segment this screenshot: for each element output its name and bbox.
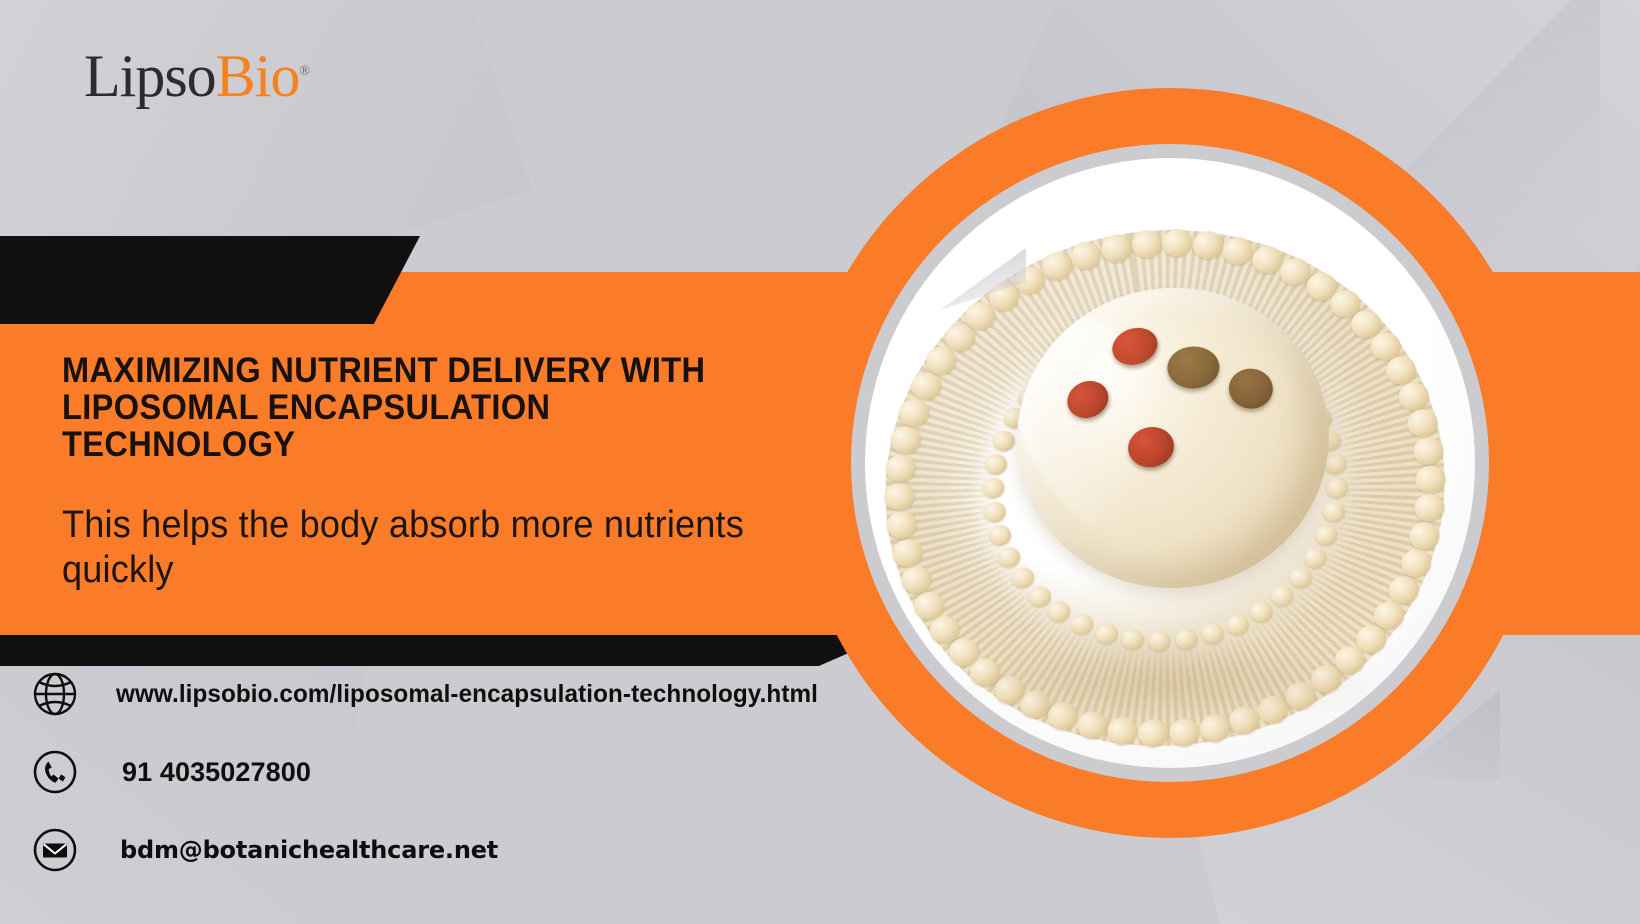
liposome-illustration: [865, 168, 1475, 768]
black-band-top: [0, 236, 420, 324]
white-disc: [865, 158, 1475, 768]
contact-block: www.lipsobio.com/liposomal-encapsulation…: [28, 655, 888, 889]
registered-trademark-icon: ®: [299, 64, 310, 79]
contact-row-phone[interactable]: 91 4035027800: [28, 733, 888, 811]
subheadline: This helps the body absorb more nutrient…: [62, 503, 765, 592]
copy-block: MAXIMIZING NUTRIENT DELIVERY WITH LIPOSO…: [62, 352, 802, 592]
phone-icon: [28, 745, 82, 799]
logo-text-primary: Lipso: [84, 43, 216, 109]
envelope-icon: [28, 823, 82, 877]
banner-canvas: LipsoBio®: [0, 0, 1640, 924]
brand-logo[interactable]: LipsoBio®: [84, 46, 310, 106]
logo-text-secondary: Bio: [216, 43, 300, 109]
liposome-shadow: [955, 638, 1385, 728]
email-text: bdm@botanichealthcare.net: [120, 836, 498, 864]
liposome-circle-graphic: [795, 88, 1545, 838]
headline: MAXIMIZING NUTRIENT DELIVERY WITH LIPOSO…: [62, 352, 750, 463]
website-text: www.lipsobio.com/liposomal-encapsulation…: [116, 680, 818, 709]
payload-capsule: [1167, 346, 1220, 390]
globe-icon: [28, 667, 82, 721]
contact-row-website[interactable]: www.lipsobio.com/liposomal-encapsulation…: [28, 655, 888, 733]
contact-row-email[interactable]: bdm@botanichealthcare.net: [28, 811, 888, 889]
phone-text: 91 4035027800: [122, 757, 311, 788]
payload-capsule: [1228, 367, 1275, 410]
